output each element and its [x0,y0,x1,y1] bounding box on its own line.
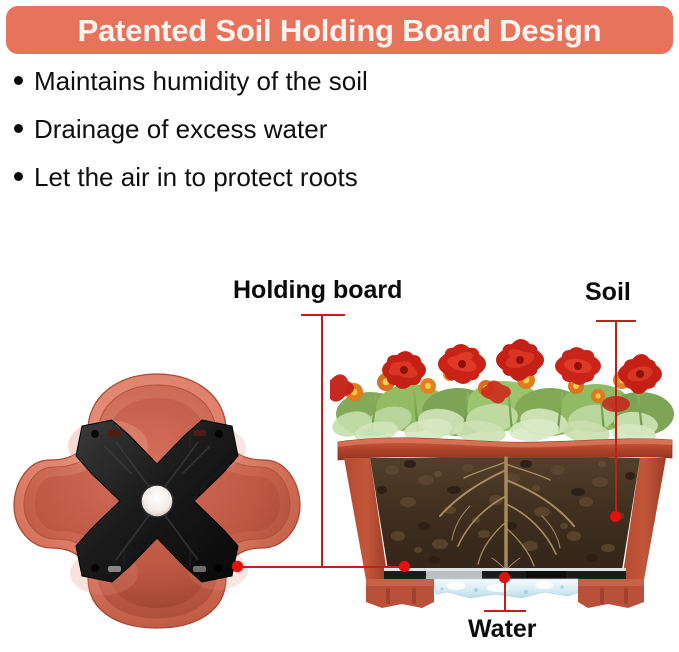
center-drain-hole [141,485,173,517]
holding-board-dot-right [399,561,410,572]
holding-board-leader-cap [301,314,345,316]
top-view-planter-figure [12,368,302,633]
label-water: Water [468,615,537,644]
holding-board-leader-left [238,566,322,568]
holding-board-leader-right [321,566,405,568]
infographic-page: Patented Soil Holding Board Design Maint… [0,0,679,652]
water-leader-vertical [504,578,506,611]
clover-planter-illustration [12,368,302,633]
foliage-layer [330,338,674,447]
label-holding-board: Holding board [233,276,402,305]
holding-board-leader-vertical [321,314,323,567]
holding-board-dot-left [232,561,243,572]
soil-leader-vertical [615,320,617,516]
water-leader-cap [484,610,526,612]
soil-dot [610,511,621,522]
label-soil: Soil [585,278,631,307]
product-diagram: Holding board Soil Water [0,0,679,652]
